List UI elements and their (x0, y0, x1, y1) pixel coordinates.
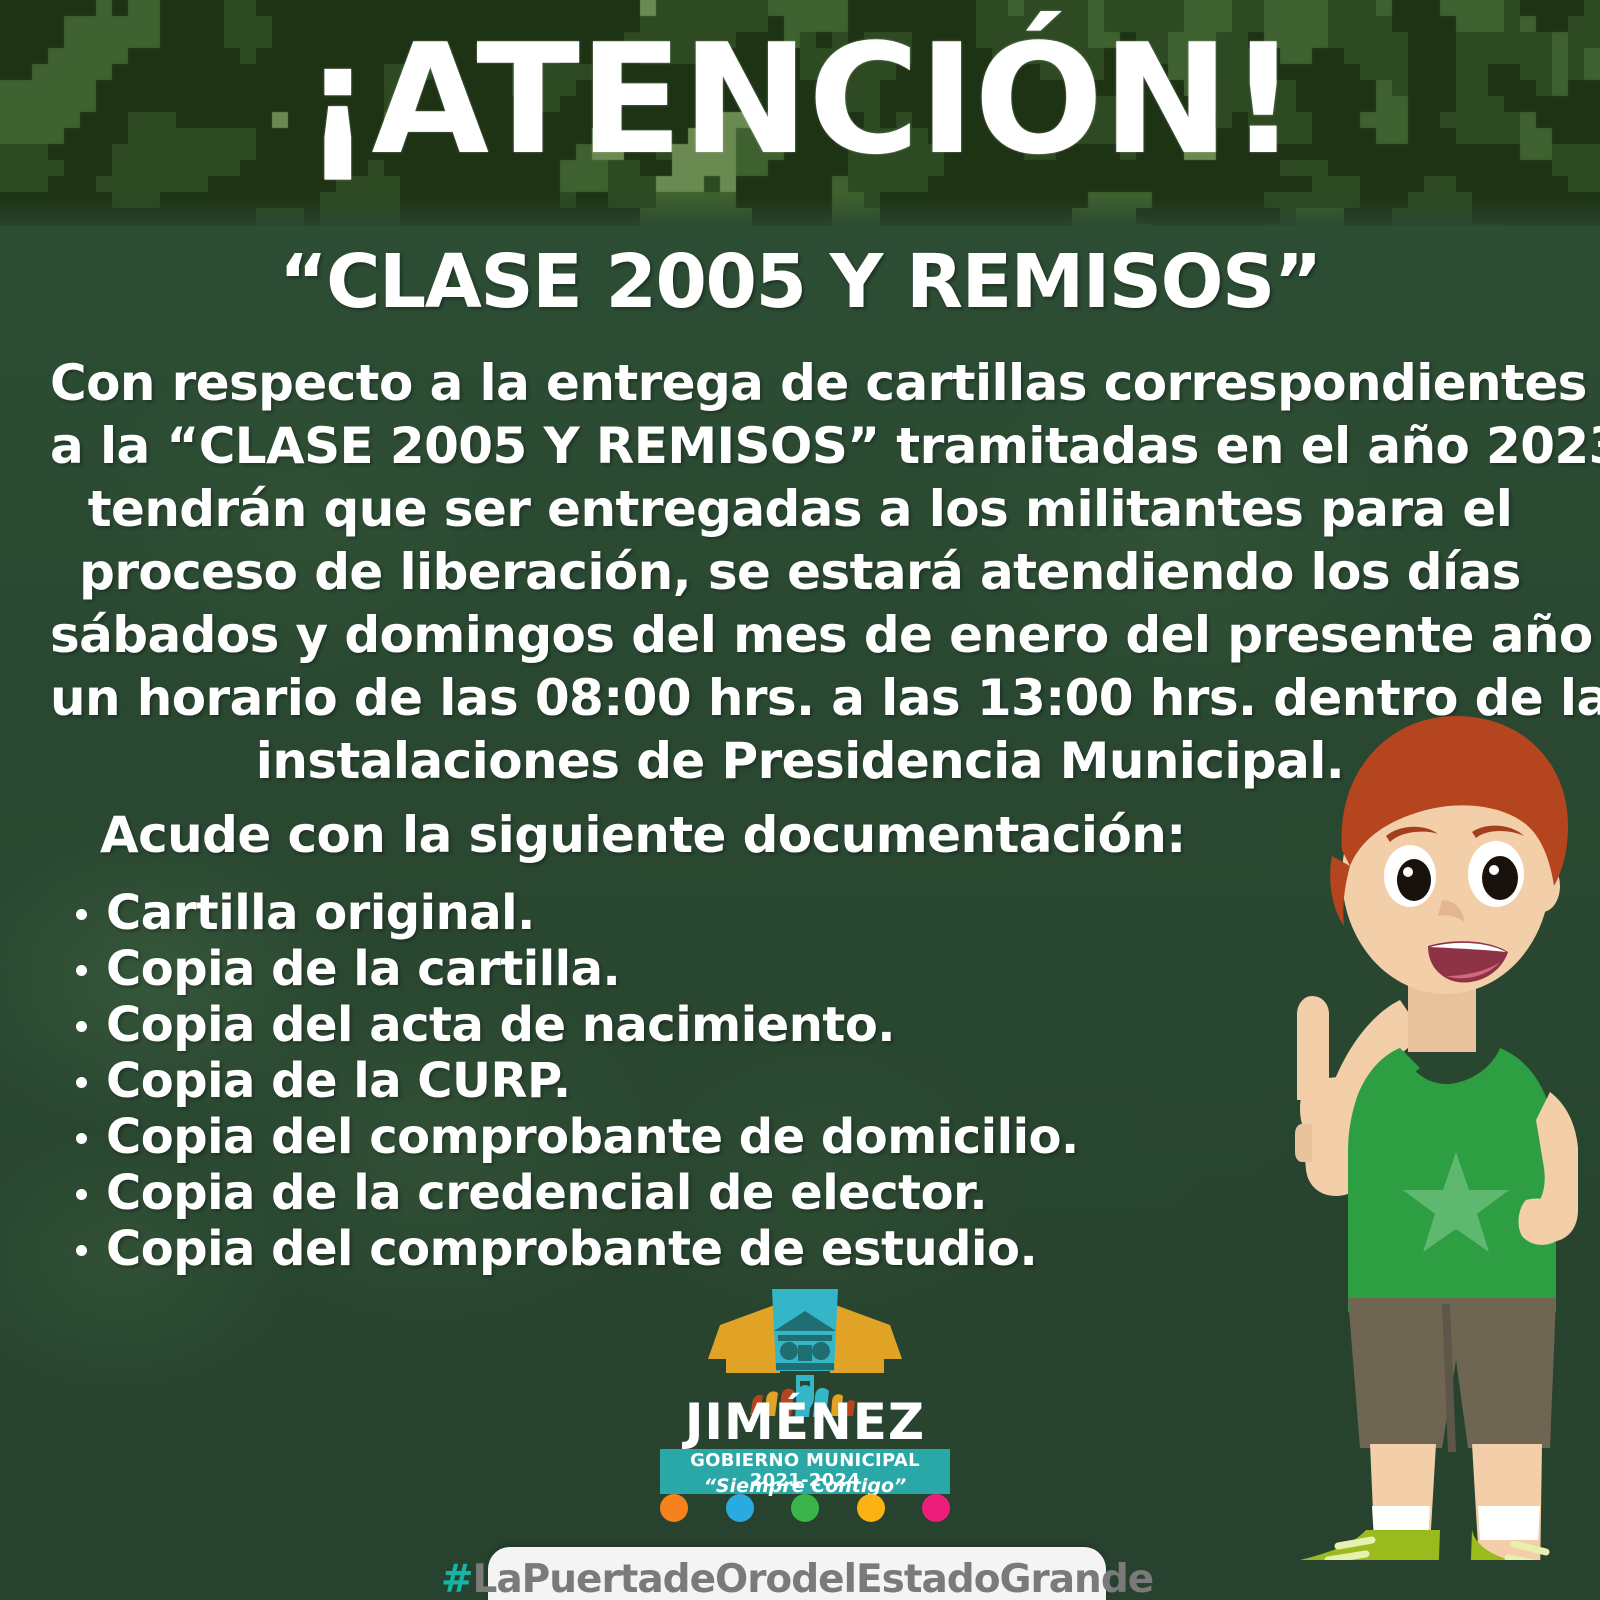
hashtag-text: #LaPuertadeOrodelEstadoGrande (441, 1559, 1153, 1600)
bullet-icon (76, 1189, 87, 1200)
bullet-icon (76, 1021, 87, 1032)
list-item-label: Copia de la cartilla. (106, 941, 620, 997)
list-item-label: Copia del acta de nacimiento. (106, 997, 895, 1053)
hashtag-banner: #LaPuertadeOrodelEstadoGrande (488, 1547, 1106, 1600)
bullet-icon (76, 965, 87, 976)
list-item: Copia del comprobante de domicilio. (72, 1109, 1272, 1165)
body-line: tendrán que ser entregadas a los militan… (50, 478, 1550, 541)
dot-yellow (857, 1494, 885, 1522)
list-item: Copia de la credencial de elector. (72, 1165, 1272, 1221)
bullet-icon (76, 1133, 87, 1144)
bullet-icon (76, 909, 87, 920)
documentation-heading: Acude con la siguiente documentación: (100, 805, 1186, 865)
list-item: Copia de la cartilla. (72, 941, 1272, 997)
dot-pink (922, 1494, 950, 1522)
list-item: Cartilla original. (72, 885, 1272, 941)
list-item-label: Copia del comprobante de domicilio. (106, 1109, 1079, 1165)
municipal-logo: JIMÉNEZ GOBIERNO MUNICIPAL 2021-2024 “Si… (660, 1255, 950, 1505)
list-item-label: Copia de la credencial de elector. (106, 1165, 987, 1221)
list-item-label: Cartilla original. (106, 885, 535, 941)
list-item: Copia de la CURP. (72, 1053, 1272, 1109)
hashtag-symbol: # (441, 1557, 473, 1600)
dot-blue (726, 1494, 754, 1522)
bullet-icon (76, 1245, 87, 1256)
list-item-label: Copia de la CURP. (106, 1053, 571, 1109)
subtitle: “CLASE 2005 Y REMISOS” (0, 245, 1600, 319)
documentation-list: Cartilla original.Copia de la cartilla.C… (72, 885, 1272, 1277)
pointing-boy-illustration (1250, 700, 1600, 1560)
page-title: ¡ATENCIÓN! (0, 24, 1600, 176)
hashtag-label: LaPuertadeOrodelEstadoGrande (473, 1557, 1154, 1600)
poster-root: ¡ATENCIÓN! “CLASE 2005 Y REMISOS” Con re… (0, 0, 1600, 1600)
body-line: Con respecto a la entrega de cartillas c… (50, 352, 1550, 415)
body-line: proceso de liberación, se estará atendie… (50, 541, 1550, 604)
logo-city-name: JIMÉNEZ (660, 1397, 950, 1447)
color-dots-row (660, 1494, 950, 1522)
dot-orange (660, 1494, 688, 1522)
body-line: sábados y domingos del mes de enero del … (50, 604, 1550, 667)
dot-green (791, 1494, 819, 1522)
list-item: Copia del acta de nacimiento. (72, 997, 1272, 1053)
bullet-icon (76, 1077, 87, 1088)
body-line: a la “CLASE 2005 Y REMISOS” tramitadas e… (50, 415, 1550, 478)
